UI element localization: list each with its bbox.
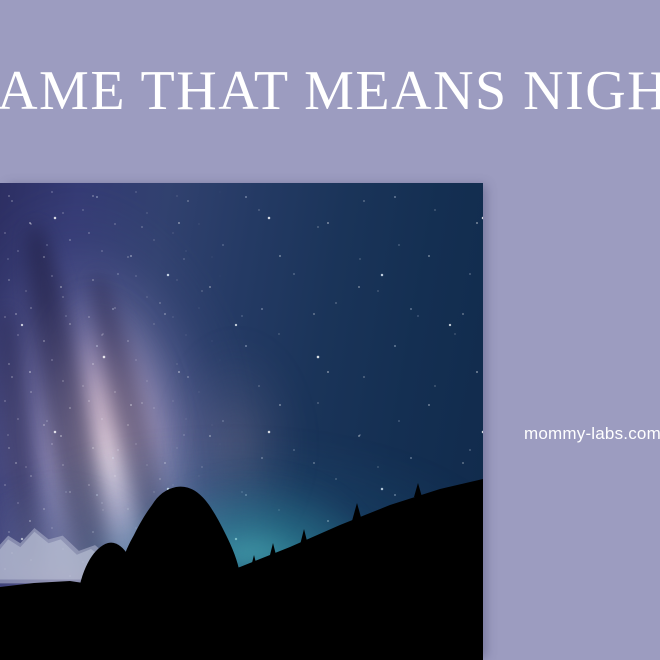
starfield-bright [0, 183, 483, 660]
page-title: NAME THAT MEANS NIGHT [0, 52, 660, 130]
slide-canvas: NAME THAT MEANS NIGHT [0, 0, 660, 660]
night-sky-photo [0, 183, 483, 660]
page-title-band: NAME THAT MEANS NIGHT [0, 52, 660, 130]
snow-mountain [0, 507, 213, 583]
watermark: mommy-labs.com [524, 423, 660, 445]
photo-frame [0, 183, 483, 660]
